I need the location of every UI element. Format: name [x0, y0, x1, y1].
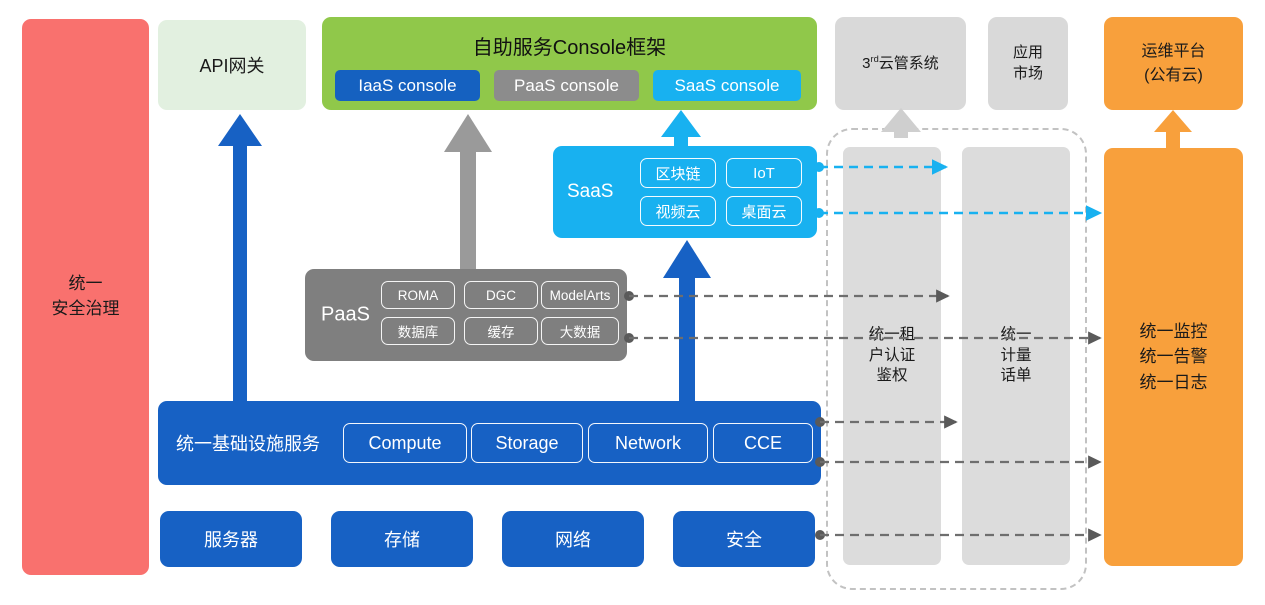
unified-tenant-auth-line3: 鉴权 [869, 366, 916, 387]
unified-metering-line2: 计量 [1000, 346, 1031, 367]
unified-infrastructure-bar: 统一基础设施服务 Compute Storage Network CCE [158, 401, 821, 485]
saas-item-video-cloud-label: 视频云 [655, 201, 700, 222]
paas-item-dgc[interactable]: DGC [464, 281, 538, 309]
arrow-saas-to-console [661, 110, 701, 149]
paas-item-dgc-label: DGC [486, 288, 516, 303]
third-party-cloud-mgmt-box[interactable]: 3rd云管系统 [835, 17, 966, 110]
iaas-console-label: IaaS console [358, 76, 456, 96]
paas-item-cache[interactable]: 缓存 [464, 317, 538, 345]
saas-label: SaaS [567, 181, 613, 203]
infra-item-storage[interactable]: Storage [471, 423, 583, 463]
infra-item-compute-label: Compute [368, 433, 441, 454]
unified-ops-line2: 统一告警 [1140, 344, 1208, 370]
api-gateway-box[interactable]: API网关 [158, 20, 306, 110]
unified-metering-line1: 统一 [1000, 325, 1031, 346]
saas-console-button[interactable]: SaaS console [653, 70, 801, 101]
security-governance-panel: 统一 安全治理 [22, 19, 149, 575]
resource-tile-security[interactable]: 安全 [673, 511, 815, 567]
security-governance-line1: 统一 [52, 272, 120, 297]
api-gateway-label: API网关 [199, 52, 264, 78]
paas-console-button[interactable]: PaaS console [494, 70, 639, 101]
self-service-console-frame: 自助服务Console框架 IaaS console PaaS console … [322, 17, 817, 110]
infra-item-network[interactable]: Network [588, 423, 708, 463]
app-market-line2: 市场 [1013, 64, 1043, 84]
unified-ops-panel: 统一监控 统一告警 统一日志 [1104, 148, 1243, 566]
saas-item-blockchain-label: 区块链 [655, 163, 700, 184]
unified-tenant-auth-column[interactable]: 统一租 户认证 鉴权 [843, 147, 941, 565]
paas-label: PaaS [321, 304, 370, 327]
unified-tenant-auth-line2: 户认证 [869, 346, 916, 367]
paas-item-cache-label: 缓存 [488, 321, 515, 341]
arrow-paas-to-console [444, 114, 492, 269]
resource-tile-network[interactable]: 网络 [502, 511, 644, 567]
unified-ops-line1: 统一监控 [1140, 319, 1208, 345]
resource-tile-server-label: 服务器 [204, 526, 258, 552]
paas-console-label: PaaS console [514, 76, 619, 96]
console-frame-title: 自助服务Console框架 [322, 31, 817, 60]
saas-item-desktop-cloud-label: 桌面云 [741, 201, 786, 222]
infra-item-network-label: Network [615, 433, 681, 454]
saas-item-desktop-cloud[interactable]: 桌面云 [726, 196, 802, 226]
paas-item-roma-label: ROMA [398, 288, 439, 303]
resource-tile-storage[interactable]: 存储 [331, 511, 473, 567]
resource-tile-network-label: 网络 [555, 526, 591, 552]
app-market-box[interactable]: 应用 市场 [988, 17, 1068, 110]
unified-tenant-auth-line1: 统一租 [869, 325, 916, 346]
ops-platform-line1: 运维平台 [1141, 40, 1205, 64]
resource-tile-security-label: 安全 [726, 526, 762, 552]
iaas-console-button[interactable]: IaaS console [335, 70, 480, 101]
arrow-infra-to-api-gateway [218, 114, 262, 401]
saas-item-blockchain[interactable]: 区块链 [640, 158, 716, 188]
paas-item-bigdata[interactable]: 大数据 [541, 317, 619, 345]
paas-item-modelarts[interactable]: ModelArts [541, 281, 619, 309]
third-party-cloud-mgmt-label: 3rd云管系统 [862, 53, 939, 74]
paas-item-database-label: 数据库 [398, 321, 439, 341]
infra-item-cce[interactable]: CCE [713, 423, 813, 463]
architecture-diagram: 统一 安全治理 API网关 自助服务Console框架 IaaS console… [0, 0, 1265, 605]
paas-item-bigdata-label: 大数据 [560, 321, 601, 341]
arrow-infra-to-saas [663, 240, 711, 401]
unified-metering-line3: 话单 [1000, 366, 1031, 387]
infra-item-storage-label: Storage [495, 433, 558, 454]
unified-metering-column[interactable]: 统一 计量 话单 [962, 147, 1070, 565]
security-governance-line2: 安全治理 [52, 297, 120, 322]
saas-item-iot[interactable]: IoT [726, 158, 802, 188]
unified-infrastructure-label: 统一基础设施服务 [176, 430, 320, 456]
ops-platform-box[interactable]: 运维平台 (公有云) [1104, 17, 1243, 110]
infra-item-cce-label: CCE [744, 433, 782, 454]
ops-platform-line2: (公有云) [1141, 64, 1205, 88]
resource-tile-server[interactable]: 服务器 [160, 511, 302, 567]
infra-item-compute[interactable]: Compute [343, 423, 467, 463]
saas-block: SaaS 区块链 IoT 视频云 桌面云 [553, 146, 817, 238]
paas-block: PaaS ROMA DGC ModelArts 数据库 缓存 大数据 [305, 269, 627, 361]
saas-item-iot-label: IoT [753, 165, 775, 182]
saas-item-video-cloud[interactable]: 视频云 [640, 196, 716, 226]
paas-item-database[interactable]: 数据库 [381, 317, 455, 345]
resource-tile-storage-label: 存储 [384, 526, 420, 552]
paas-item-modelarts-label: ModelArts [550, 288, 611, 303]
saas-console-label: SaaS console [675, 76, 780, 96]
app-market-line1: 应用 [1013, 43, 1043, 63]
paas-item-roma[interactable]: ROMA [381, 281, 455, 309]
arrow-ops-panel-to-ops-platform [1154, 110, 1192, 148]
unified-ops-line3: 统一日志 [1140, 370, 1208, 396]
